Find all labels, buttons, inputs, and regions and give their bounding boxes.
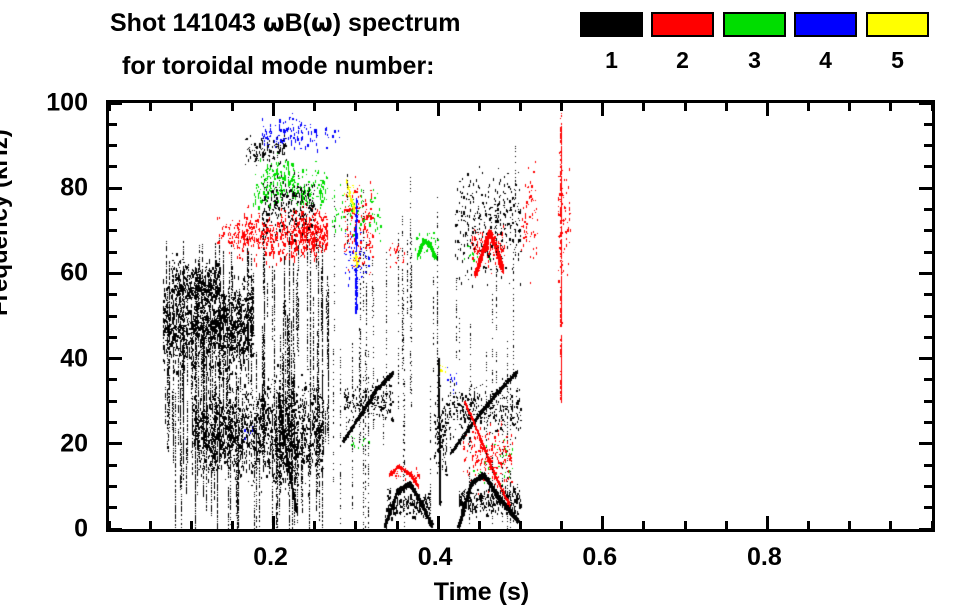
y-tick-minor — [109, 485, 117, 488]
y-tick-minor — [109, 378, 117, 381]
x-tick-major — [437, 516, 440, 529]
y-tick-major — [109, 357, 122, 360]
x-tick-label-0.2: 0.2 — [253, 543, 288, 572]
legend-swatch-1 — [580, 12, 643, 37]
x-tick-major — [601, 103, 604, 116]
x-tick-minor — [190, 103, 193, 111]
x-tick-minor — [807, 521, 810, 529]
y-tick-minor — [924, 400, 932, 403]
y-tick-label-100: 100 — [46, 89, 88, 118]
x-tick-major — [272, 516, 275, 529]
x-tick-minor — [642, 103, 645, 111]
legend-swatch-2 — [651, 12, 714, 37]
x-axis-title: Time (s) — [0, 578, 963, 607]
y-tick-minor — [924, 208, 932, 211]
y-tick-minor — [109, 251, 117, 254]
x-tick-minor — [231, 103, 234, 111]
spectrogram-figure: Shot 141043 ωB(ω) spectrum for toroidal … — [0, 0, 963, 615]
x-tick-major — [601, 516, 604, 529]
x-tick-major — [272, 103, 275, 116]
x-tick-minor — [725, 103, 728, 111]
x-tick-minor — [725, 521, 728, 529]
legend-label-1: 1 — [580, 48, 643, 73]
y-tick-minor — [924, 485, 932, 488]
y-tick-minor — [924, 229, 932, 232]
title-spectrum-text: ) spectrum — [333, 9, 461, 37]
legend-swatch-3 — [723, 12, 786, 37]
x-tick-minor — [396, 103, 399, 111]
y-tick-minor — [109, 293, 117, 296]
y-tick-minor — [109, 315, 117, 318]
y-tick-major — [109, 187, 122, 190]
x-tick-minor — [396, 521, 399, 529]
x-tick-minor — [848, 103, 851, 111]
y-tick-minor — [924, 421, 932, 424]
y-tick-label-80: 80 — [60, 174, 88, 203]
legend-swatch-5 — [866, 12, 929, 37]
x-tick-minor — [478, 103, 481, 111]
y-tick-major — [919, 187, 932, 190]
x-tick-label-0.6: 0.6 — [582, 543, 617, 572]
y-tick-major — [919, 442, 932, 445]
plot-area — [106, 100, 935, 532]
y-tick-minor — [924, 315, 932, 318]
x-tick-minor — [684, 103, 687, 111]
legend-item-3: 3 — [723, 12, 786, 37]
x-tick-minor — [108, 521, 111, 529]
x-tick-minor — [354, 103, 357, 111]
y-tick-minor — [109, 123, 117, 126]
y-tick-minor — [924, 165, 932, 168]
y-tick-minor — [109, 506, 117, 509]
y-tick-minor — [924, 464, 932, 467]
legend-item-2: 2 — [651, 12, 714, 37]
x-tick-minor — [642, 521, 645, 529]
y-tick-major — [109, 272, 122, 275]
spectrogram-scatter-canvas — [109, 103, 932, 529]
y-tick-minor — [924, 336, 932, 339]
x-tick-minor — [231, 521, 234, 529]
legend: 12345 — [580, 12, 955, 88]
y-axis-title: Frequency (kHz) — [0, 129, 14, 316]
x-tick-major — [766, 103, 769, 116]
figure-title-line2: for toroidal mode number: — [122, 52, 435, 81]
x-tick-minor — [560, 103, 563, 111]
y-tick-major — [919, 357, 932, 360]
y-tick-minor — [109, 421, 117, 424]
x-tick-minor — [149, 103, 152, 111]
y-tick-minor — [109, 336, 117, 339]
y-tick-label-40: 40 — [60, 344, 88, 373]
title-shot-text: Shot 141043 — [110, 9, 263, 37]
x-tick-minor — [149, 521, 152, 529]
legend-label-3: 3 — [723, 48, 786, 73]
x-tick-label-0.8: 0.8 — [747, 543, 782, 572]
y-tick-minor — [924, 251, 932, 254]
x-tick-minor — [313, 103, 316, 111]
x-tick-minor — [354, 521, 357, 529]
x-tick-minor — [931, 521, 934, 529]
x-tick-minor — [684, 521, 687, 529]
y-tick-minor — [924, 506, 932, 509]
spectrogram-canvas-wrapper — [109, 103, 932, 529]
y-tick-label-0: 0 — [74, 515, 88, 544]
y-tick-minor — [109, 144, 117, 147]
legend-label-2: 2 — [651, 48, 714, 73]
y-tick-minor — [924, 144, 932, 147]
y-tick-minor — [109, 165, 117, 168]
y-tick-minor — [924, 123, 932, 126]
y-tick-label-60: 60 — [60, 259, 88, 288]
legend-swatch-4 — [794, 12, 857, 37]
y-tick-label-20: 20 — [60, 429, 88, 458]
figure-title-line1: Shot 141043 ωB(ω) spectrum — [110, 8, 461, 38]
omega-symbol-1: ω — [263, 8, 285, 37]
omega-symbol-2: ω — [311, 8, 333, 37]
y-tick-major — [109, 102, 122, 105]
x-tick-minor — [190, 521, 193, 529]
x-tick-minor — [478, 521, 481, 529]
title-b-text: B( — [285, 9, 311, 37]
x-tick-major — [766, 516, 769, 529]
x-tick-minor — [519, 521, 522, 529]
x-tick-major — [437, 103, 440, 116]
x-tick-minor — [931, 103, 934, 111]
x-tick-minor — [889, 521, 892, 529]
x-tick-minor — [848, 521, 851, 529]
y-tick-major — [919, 272, 932, 275]
legend-item-5: 5 — [866, 12, 929, 37]
x-tick-minor — [108, 103, 111, 111]
legend-item-1: 1 — [580, 12, 643, 37]
y-tick-minor — [109, 229, 117, 232]
y-tick-minor — [109, 400, 117, 403]
legend-label-5: 5 — [866, 48, 929, 73]
y-tick-minor — [109, 208, 117, 211]
legend-label-4: 4 — [794, 48, 857, 73]
y-tick-minor — [924, 293, 932, 296]
y-tick-major — [109, 528, 122, 531]
y-tick-minor — [109, 464, 117, 467]
y-tick-minor — [924, 378, 932, 381]
x-tick-minor — [313, 521, 316, 529]
x-tick-minor — [519, 103, 522, 111]
x-tick-label-0.4: 0.4 — [418, 543, 453, 572]
y-tick-major — [109, 442, 122, 445]
x-tick-minor — [889, 103, 892, 111]
x-tick-minor — [807, 103, 810, 111]
legend-item-4: 4 — [794, 12, 857, 37]
x-tick-minor — [560, 521, 563, 529]
